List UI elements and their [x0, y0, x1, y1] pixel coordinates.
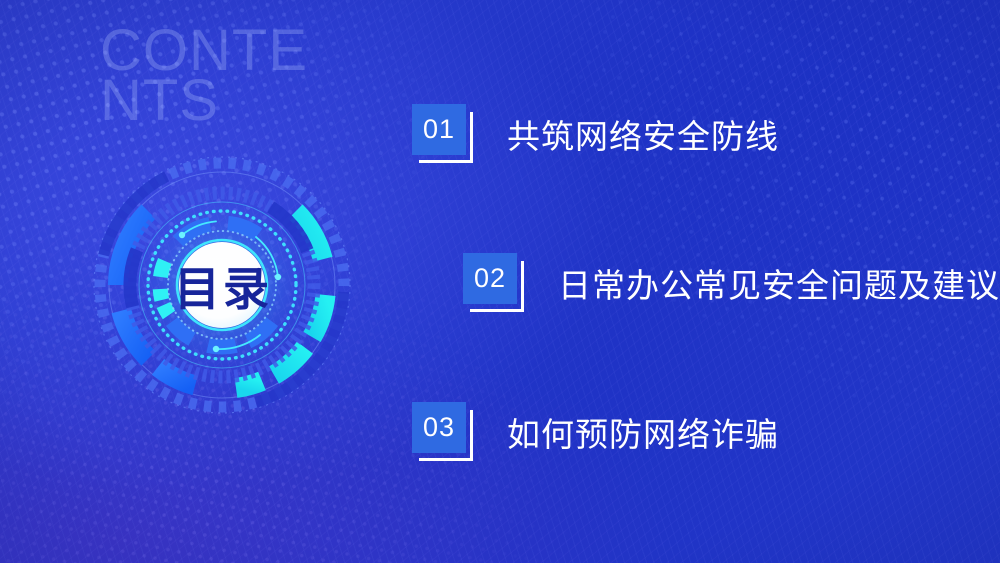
agenda-title-03: 如何预防网络诈骗	[507, 408, 779, 456]
presentation-slide: CONTENTS	[0, 0, 1000, 563]
hud-circle-emblem: 目录	[52, 146, 392, 424]
agenda-item-02[interactable]: 02 日常办公常见安全问题及建议	[463, 253, 1000, 313]
agenda-number-badge-02: 02	[463, 253, 525, 313]
agenda-number-box-02: 02	[463, 253, 517, 304]
agenda-title-01: 共筑网络安全防线	[507, 110, 779, 158]
agenda-number-badge-01: 01	[412, 104, 474, 164]
contents-watermark: CONTENTS	[100, 26, 340, 126]
agenda-item-03[interactable]: 03 如何预防网络诈骗	[412, 402, 779, 462]
agenda-title-02: 日常办公常见安全问题及建议	[558, 259, 1000, 307]
agenda-number-text-03: 03	[423, 414, 455, 441]
agenda-item-01[interactable]: 01 共筑网络安全防线	[412, 104, 779, 164]
agenda-number-text-02: 02	[474, 265, 506, 292]
agenda-number-box-01: 01	[412, 104, 466, 155]
agenda-number-badge-03: 03	[412, 402, 474, 462]
hud-rings-graphic	[52, 146, 392, 424]
agenda-number-text-01: 01	[423, 116, 455, 143]
agenda-number-box-03: 03	[412, 402, 466, 453]
